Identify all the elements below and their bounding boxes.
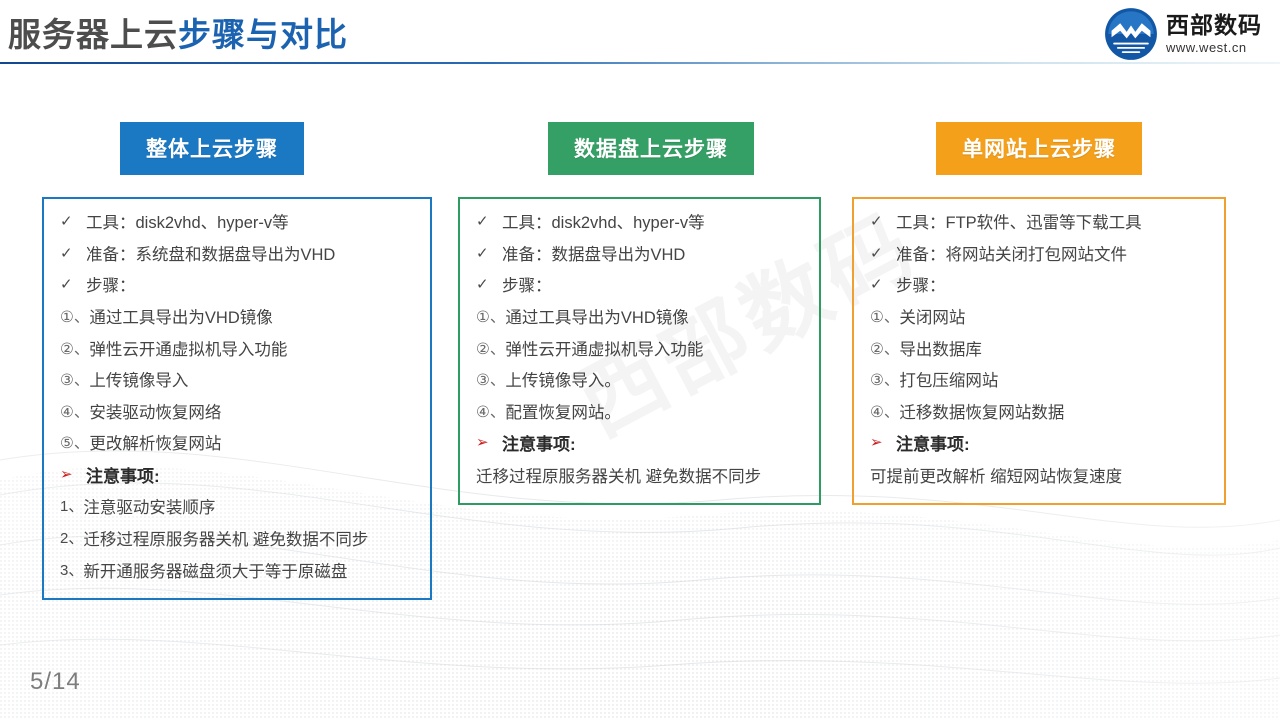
- check-icon: ✓: [476, 245, 502, 264]
- column-overall-migration: 整体上云步骤 ✓ 工具：disk2vhd、hyper-v等 ✓ 准备：系统盘和数…: [42, 122, 432, 600]
- check-icon: ✓: [60, 213, 86, 232]
- list-item: ①、 关闭网站: [870, 308, 1212, 329]
- list-item-text: 安装驱动恢复网络: [89, 403, 418, 424]
- check-icon: ✓: [870, 245, 896, 264]
- number-label: 2、: [60, 530, 83, 549]
- page-title: 服务器上云步骤与对比: [8, 8, 348, 56]
- list-item: ✓ 工具：disk2vhd、hyper-v等: [476, 213, 807, 234]
- list-item: ⑤、 更改解析恢复网站: [60, 434, 418, 455]
- list-item: ✓ 步骤：: [870, 276, 1212, 297]
- check-icon: ✓: [476, 276, 502, 295]
- list-item-text: 步骤：: [896, 276, 1212, 297]
- check-icon: ✓: [870, 213, 896, 232]
- list-item-text: 注意驱动安装顺序: [83, 498, 418, 519]
- arrow-bullet-icon: ➢: [476, 434, 502, 453]
- list-item: ②、 弹性云开通虚拟机导入功能: [476, 340, 807, 361]
- notice-body-text: 可提前更改解析 缩短网站恢复速度: [870, 467, 1212, 488]
- list-item: ③、 上传镜像导入: [60, 371, 418, 392]
- column-datadisk-migration: 数据盘上云步骤 ✓ 工具：disk2vhd、hyper-v等 ✓ 准备：数据盘导…: [458, 122, 821, 505]
- list-item-text: 准备：系统盘和数据盘导出为VHD: [86, 245, 418, 266]
- badge-wrap-1: 整体上云步骤: [42, 122, 432, 175]
- list-item-text: 弹性云开通虚拟机导入功能: [89, 340, 418, 361]
- badge-overall-migration[interactable]: 整体上云步骤: [120, 122, 304, 175]
- list-item-text: 关闭网站: [899, 308, 1212, 329]
- list-item: ✓ 工具：FTP软件、迅雷等下载工具: [870, 213, 1212, 234]
- steps-box-datadisk: ✓ 工具：disk2vhd、hyper-v等 ✓ 准备：数据盘导出为VHD ✓ …: [458, 197, 821, 505]
- list-item-text: 新开通服务器磁盘须大于等于原磁盘: [83, 562, 418, 583]
- list-item: 2、 迁移过程原服务器关机 避免数据不同步: [60, 530, 418, 551]
- list-item-text: 步骤：: [86, 276, 418, 297]
- page-title-accent: 步骤与对比: [178, 16, 348, 53]
- brand-name: 西部数码: [1166, 14, 1262, 37]
- list-item-text: 上传镜像导入: [89, 371, 418, 392]
- notice-body: 可提前更改解析 缩短网站恢复速度: [870, 467, 1212, 488]
- circled-number-icon: ④、: [870, 403, 899, 422]
- list-item-text: 更改解析恢复网站: [89, 434, 418, 455]
- list-item: ①、 通过工具导出为VHD镜像: [476, 308, 807, 329]
- circled-number-icon: ③、: [476, 371, 505, 390]
- notice-heading: ➢ 注意事项:: [870, 434, 1212, 455]
- list-item-text: 迁移过程原服务器关机 避免数据不同步: [83, 530, 418, 551]
- circled-number-icon: ②、: [870, 340, 899, 359]
- circled-number-icon: ③、: [60, 371, 89, 390]
- list-item-text: 上传镜像导入。: [505, 371, 807, 392]
- page-title-primary: 服务器上云: [8, 16, 178, 53]
- circled-number-icon: ③、: [870, 371, 899, 390]
- number-label: 1、: [60, 498, 83, 517]
- list-item-text: 导出数据库: [899, 340, 1212, 361]
- list-item: ①、 通过工具导出为VHD镜像: [60, 308, 418, 329]
- badge-wrap-2: 数据盘上云步骤: [458, 122, 821, 175]
- list-item-text: 打包压缩网站: [899, 371, 1212, 392]
- circled-number-icon: ⑤、: [60, 434, 89, 453]
- list-item: ✓ 工具：disk2vhd、hyper-v等: [60, 213, 418, 234]
- list-item-text: 步骤：: [502, 276, 807, 297]
- arrow-bullet-icon: ➢: [870, 434, 896, 453]
- list-item: ④、 安装驱动恢复网络: [60, 403, 418, 424]
- page-number: 5/14: [30, 668, 81, 696]
- comparison-columns: 整体上云步骤 ✓ 工具：disk2vhd、hyper-v等 ✓ 准备：系统盘和数…: [0, 0, 1280, 720]
- list-item: ②、 弹性云开通虚拟机导入功能: [60, 340, 418, 361]
- circled-number-icon: ①、: [60, 308, 89, 327]
- list-item: ③、 上传镜像导入。: [476, 371, 807, 392]
- check-icon: ✓: [60, 276, 86, 295]
- notice-heading-text: 注意事项:: [502, 434, 807, 455]
- check-icon: ✓: [60, 245, 86, 264]
- list-item: ✓ 准备：数据盘导出为VHD: [476, 245, 807, 266]
- list-item-text: 工具：FTP软件、迅雷等下载工具: [896, 213, 1212, 234]
- list-item: 1、 注意驱动安装顺序: [60, 498, 418, 519]
- circled-number-icon: ①、: [476, 308, 505, 327]
- list-item: ✓ 步骤：: [60, 276, 418, 297]
- circled-number-icon: ②、: [476, 340, 505, 359]
- list-item-text: 准备：将网站关闭打包网站文件: [896, 245, 1212, 266]
- notice-heading-text: 注意事项:: [896, 434, 1212, 455]
- brand-url: www.west.cn: [1166, 41, 1262, 54]
- circled-number-icon: ④、: [60, 403, 89, 422]
- notice-body: 迁移过程原服务器关机 避免数据不同步: [476, 467, 807, 488]
- arrow-bullet-icon: ➢: [60, 466, 86, 485]
- number-label: 3、: [60, 562, 83, 581]
- steps-box-overall: ✓ 工具：disk2vhd、hyper-v等 ✓ 准备：系统盘和数据盘导出为VH…: [42, 197, 432, 600]
- list-item-text: 弹性云开通虚拟机导入功能: [505, 340, 807, 361]
- steps-box-singlesite: ✓ 工具：FTP软件、迅雷等下载工具 ✓ 准备：将网站关闭打包网站文件 ✓ 步骤…: [852, 197, 1226, 505]
- badge-datadisk-migration[interactable]: 数据盘上云步骤: [548, 122, 754, 175]
- list-item: ③、 打包压缩网站: [870, 371, 1212, 392]
- brand-logo-text: 西部数码 www.west.cn: [1166, 14, 1262, 54]
- list-item-text: 通过工具导出为VHD镜像: [505, 308, 807, 329]
- notice-heading: ➢ 注意事项:: [476, 434, 807, 455]
- list-item-text: 通过工具导出为VHD镜像: [89, 308, 418, 329]
- check-icon: ✓: [870, 276, 896, 295]
- list-item: ②、 导出数据库: [870, 340, 1212, 361]
- notice-heading-text: 注意事项:: [86, 466, 418, 487]
- list-item-text: 配置恢复网站。: [505, 403, 807, 424]
- column-singlesite-migration: 单网站上云步骤 ✓ 工具：FTP软件、迅雷等下载工具 ✓ 准备：将网站关闭打包网…: [852, 122, 1226, 505]
- list-item: ✓ 准备：系统盘和数据盘导出为VHD: [60, 245, 418, 266]
- circled-number-icon: ①、: [870, 308, 899, 327]
- west-circle-logo-icon: [1104, 7, 1158, 61]
- circled-number-icon: ④、: [476, 403, 505, 422]
- list-item-text: 迁移数据恢复网站数据: [899, 403, 1212, 424]
- badge-wrap-3: 单网站上云步骤: [852, 122, 1226, 175]
- list-item: ✓ 准备：将网站关闭打包网站文件: [870, 245, 1212, 266]
- notice-heading: ➢ 注意事项:: [60, 466, 418, 487]
- list-item: 3、 新开通服务器磁盘须大于等于原磁盘: [60, 562, 418, 583]
- list-item: ✓ 步骤：: [476, 276, 807, 297]
- badge-singlesite-migration[interactable]: 单网站上云步骤: [936, 122, 1142, 175]
- list-item: ④、 配置恢复网站。: [476, 403, 807, 424]
- list-item-text: 准备：数据盘导出为VHD: [502, 245, 807, 266]
- list-item-text: 工具：disk2vhd、hyper-v等: [502, 213, 807, 234]
- notice-body-text: 迁移过程原服务器关机 避免数据不同步: [476, 467, 807, 488]
- title-divider: [0, 62, 1280, 64]
- check-icon: ✓: [476, 213, 502, 232]
- slide-header: 服务器上云步骤与对比 西部数码 www.west.cn: [0, 0, 1280, 68]
- brand-logo: 西部数码 www.west.cn: [1104, 6, 1262, 62]
- list-item-text: 工具：disk2vhd、hyper-v等: [86, 213, 418, 234]
- circled-number-icon: ②、: [60, 340, 89, 359]
- list-item: ④、 迁移数据恢复网站数据: [870, 403, 1212, 424]
